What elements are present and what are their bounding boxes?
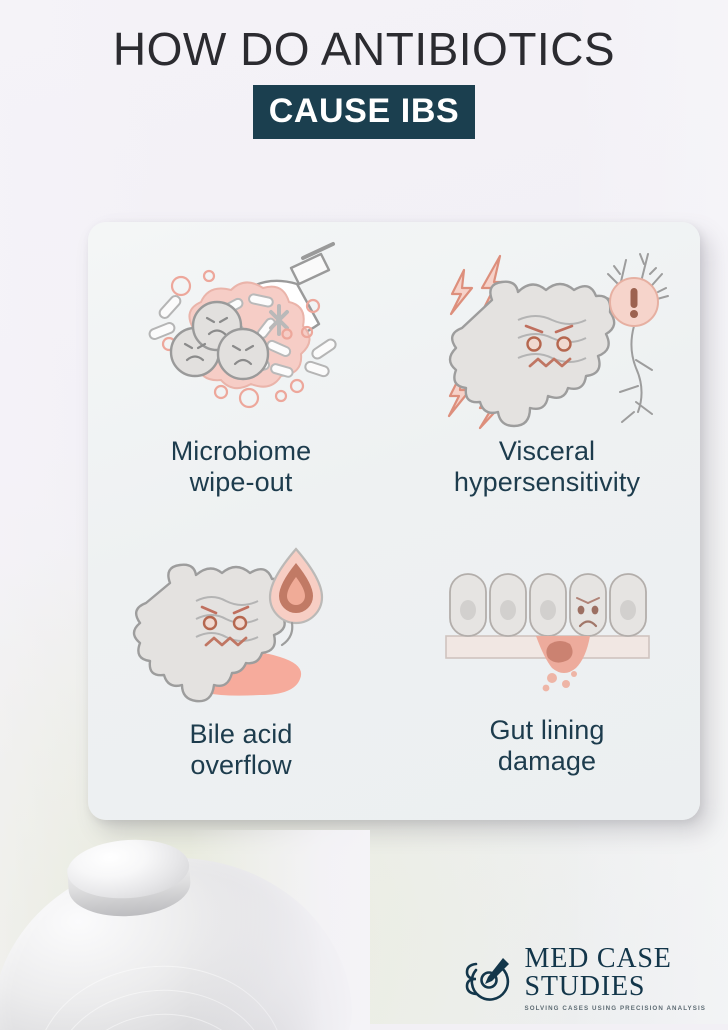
label-line-2: damage xyxy=(489,746,604,777)
magnifier-pen-circle-icon xyxy=(459,950,515,1006)
cause-item-gut-lining-damage[interactable]: Gut lining damage xyxy=(394,521,700,820)
title-badge: CAUSE IBS xyxy=(253,85,476,139)
photo-fade-overlay xyxy=(0,830,370,1030)
logo-line-2: STUDIES xyxy=(525,973,707,1002)
label-line-1: Gut lining xyxy=(489,715,604,746)
brand-logo[interactable]: MED CASE STUDIES SOLVING CASES USING PRE… xyxy=(459,945,707,1012)
cause-item-bile-acid-overflow[interactable]: Bile acid overflow xyxy=(88,521,394,820)
broom-sweeping-bacteria-colony-icon xyxy=(121,240,361,430)
page-title: HOW DO ANTIBIOTICS xyxy=(0,0,728,72)
epithelial-cells-breach-icon xyxy=(440,560,655,700)
intestine-lightning-neuron-icon xyxy=(422,240,672,430)
label-line-2: hypersensitivity xyxy=(454,467,640,498)
cause-label-microbiome: Microbiome wipe-out xyxy=(171,436,312,497)
cause-label-gut-lining: Gut lining damage xyxy=(489,715,604,776)
logo-tagline: SOLVING CASES USING PRECISION ANALYSIS xyxy=(525,1005,707,1012)
label-line-1: Microbiome xyxy=(171,436,312,467)
cause-item-microbiome-wipe-out[interactable]: Microbiome wipe-out xyxy=(88,222,394,521)
label-line-1: Visceral xyxy=(454,436,640,467)
cause-label-visceral: Visceral hypersensitivity xyxy=(454,436,640,497)
cause-grid: Microbiome wipe-out xyxy=(88,222,700,820)
cause-label-bile: Bile acid overflow xyxy=(190,719,293,780)
title-badge-row: CAUSE IBS xyxy=(0,85,728,139)
label-line-2: wipe-out xyxy=(171,467,312,498)
header: HOW DO ANTIBIOTICS CAUSE IBS xyxy=(0,0,728,139)
content-card: Microbiome wipe-out xyxy=(88,222,700,820)
intestine-bile-droplet-puddle-icon xyxy=(126,537,356,712)
microbiome-art xyxy=(121,240,361,430)
cause-item-visceral-hypersensitivity[interactable]: Visceral hypersensitivity xyxy=(394,222,700,521)
label-line-2: overflow xyxy=(190,750,293,781)
logo-line-1: MED CASE xyxy=(525,945,707,974)
bile-art xyxy=(126,539,356,709)
logo-wordmark: MED CASE STUDIES SOLVING CASES USING PRE… xyxy=(525,945,707,1012)
label-line-1: Bile acid xyxy=(190,719,293,750)
gut-lining-art xyxy=(440,555,655,705)
tablet-on-fingertip-photo xyxy=(0,830,370,1030)
visceral-art xyxy=(422,240,672,430)
